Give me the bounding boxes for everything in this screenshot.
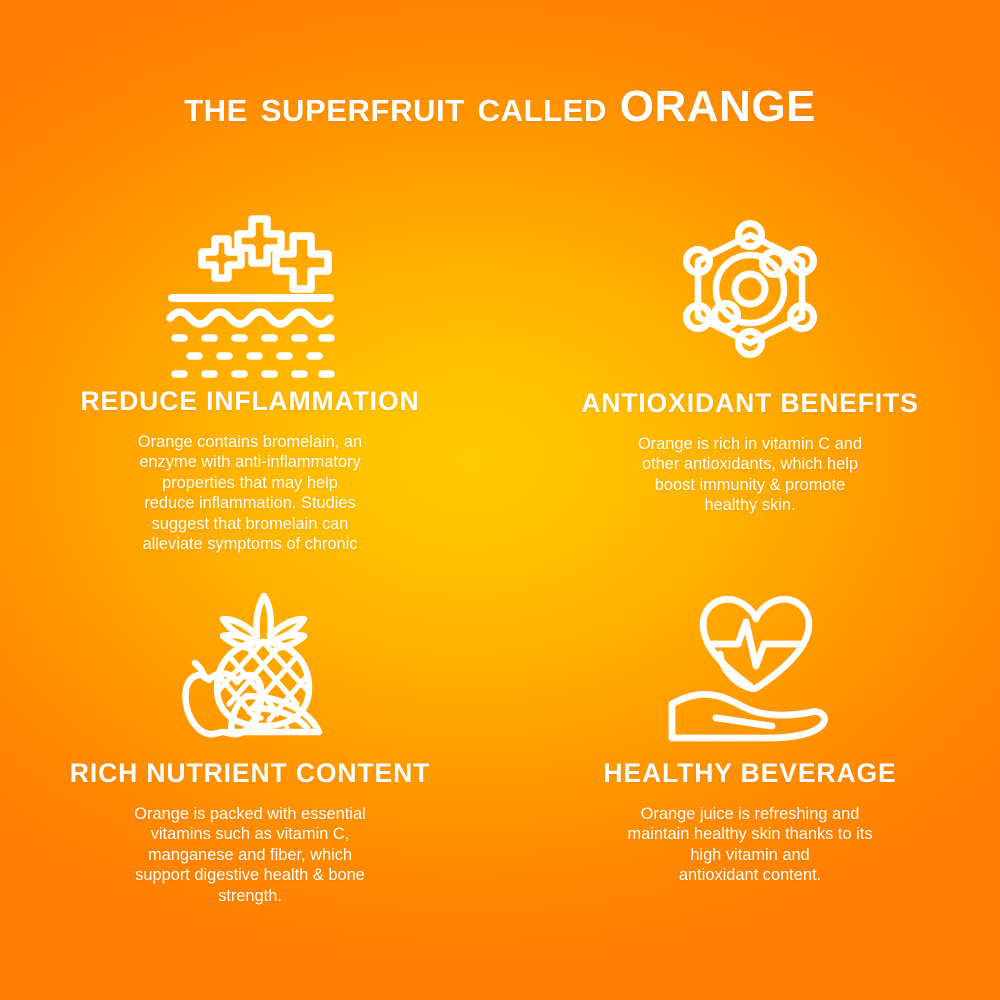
card-body-line: strength. [85, 886, 415, 906]
fruits-pineapple-apple-watermelon-icon [150, 592, 350, 742]
card-body-line: high vitamin and [585, 845, 915, 865]
poster-title-container: The Superfruit Called ORANGE [0, 82, 1000, 132]
card-body: Orange juice is refreshing and maintain … [585, 804, 915, 886]
skin-layers-plus-icon [150, 214, 350, 364]
benefit-card-healthy-beverage: HEALTHY BEVERAGE Orange juice is refresh… [500, 586, 1000, 976]
card-body-line: maintain healthy skin thanks to its [585, 824, 915, 844]
card-title: ANTIOXIDANT BENEFITS [581, 388, 918, 419]
card-body-line: boost immunity & promote [585, 475, 915, 495]
card-body-line: Orange contains bromelain, an [85, 432, 415, 452]
benefit-card-rich-nutrient-content: RICH NUTRIENT CONTENT Orange is packed w… [0, 586, 500, 976]
card-body-line: support digestive health & bone [85, 865, 415, 885]
poster-title: The Superfruit Called ORANGE [184, 82, 816, 132]
heart-heartbeat-in-hand-icon [650, 592, 850, 742]
card-body-line: antioxidant content. [585, 865, 915, 885]
card-body-line: properties that may help [85, 473, 415, 493]
molecule-antioxidant-icon [650, 214, 850, 364]
card-body-line: Orange is rich in vitamin C and [585, 434, 915, 454]
card-body-line: vitamins such as vitamin C, [85, 824, 415, 844]
poster-title-smallcaps: The Superfruit Called [184, 82, 620, 131]
card-title: RICH NUTRIENT CONTENT [70, 758, 430, 789]
card-body-line: Orange juice is refreshing and [585, 804, 915, 824]
card-body-line: Orange is packed with essential [85, 804, 415, 824]
card-body-line: enzyme with anti-inflammatory [85, 452, 415, 472]
benefit-card-antioxidant-benefits: ANTIOXIDANT BENEFITS Orange is rich in v… [500, 196, 1000, 586]
card-body-line: other antioxidants, which help [585, 454, 915, 474]
card-body-line: healthy skin. [585, 495, 915, 515]
card-body: Orange is packed with essential vitamins… [85, 804, 415, 906]
card-body: Orange is rich in vitamin C and other an… [585, 434, 915, 516]
card-body: Orange contains bromelain, an enzyme wit… [85, 432, 415, 554]
benefit-card-grid: REDUCE INFLAMMATION Orange contains brom… [0, 196, 1000, 976]
card-title: HEALTHY BEVERAGE [603, 758, 896, 789]
card-body-line: manganese and fiber, which [85, 845, 415, 865]
benefit-card-reduce-inflammation: REDUCE INFLAMMATION Orange contains brom… [0, 196, 500, 586]
card-body-line: suggest that bromelain can [85, 514, 415, 534]
poster-title-brand: ORANGE [620, 82, 816, 131]
card-title: REDUCE INFLAMMATION [81, 386, 420, 417]
card-body-line: reduce inflammation. Studies [85, 493, 415, 513]
infographic-poster: The Superfruit Called ORANGE [0, 0, 1000, 1000]
card-body-line: alleviate symptoms of chronic [85, 534, 415, 554]
